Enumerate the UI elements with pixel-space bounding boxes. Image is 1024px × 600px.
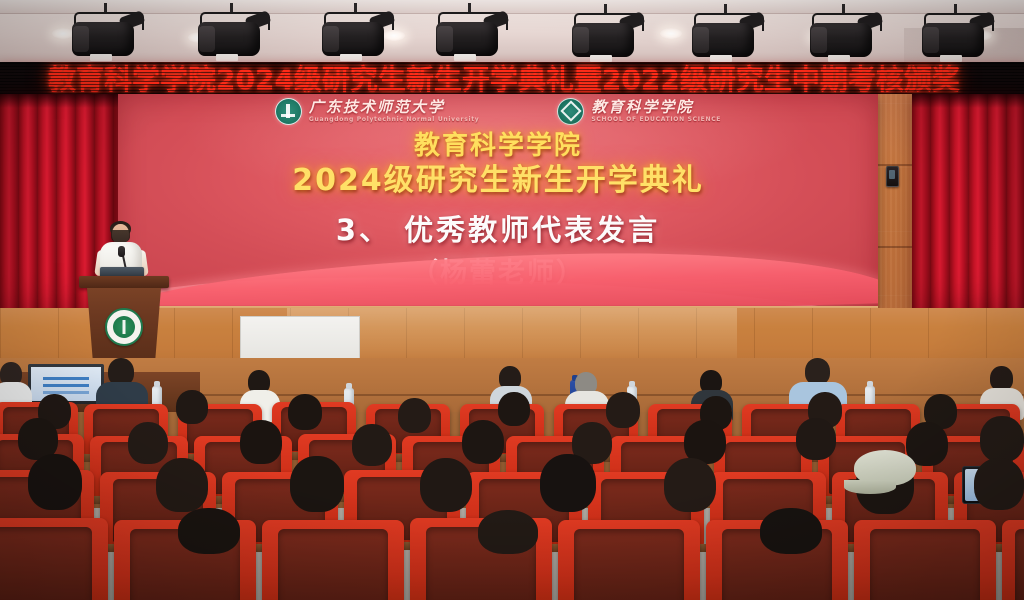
person-head <box>805 358 830 385</box>
person-head <box>240 420 282 464</box>
person-head <box>156 458 208 512</box>
person-head <box>290 456 344 512</box>
led-banner: 教育科学学院2024级研究生新生开学典礼暨2022级研究生中期考核颁奖 <box>0 62 1024 95</box>
person-head <box>352 424 392 466</box>
stage-spotlight-icon <box>196 12 270 60</box>
screen-line-3: 3、 优秀教师代表发言 <box>118 215 878 246</box>
person-head <box>176 390 208 424</box>
school-name-en: SCHOOL OF EDUCATION SCIENCE <box>591 117 721 123</box>
university-name-cn: 广东技术师范大学 <box>309 100 480 115</box>
person-head <box>478 510 538 554</box>
person-head <box>28 454 82 510</box>
cap-brim-icon <box>844 480 896 494</box>
person-head <box>796 418 836 460</box>
downlight-icon <box>660 28 682 39</box>
podium-top <box>79 276 169 288</box>
stage-spotlight-icon <box>70 12 144 60</box>
university-emblem-icon <box>275 98 302 125</box>
stage-spotlight-icon <box>920 13 994 61</box>
person-head <box>462 420 504 464</box>
school-name-cn: 教育科学学院 <box>591 100 721 115</box>
university-logo: 广东技术师范大学 Guangdong Polytechnic Normal Un… <box>275 98 480 125</box>
projection-screen: 广东技术师范大学 Guangdong Polytechnic Normal Un… <box>118 94 878 308</box>
person-head <box>398 398 431 433</box>
ceiling <box>0 0 1024 62</box>
led-banner-text: 教育科学学院2024级研究生新生开学典礼暨2022级研究生中期考核颁奖 <box>48 62 960 95</box>
person-head <box>128 422 168 464</box>
person-head <box>760 508 822 554</box>
person-head <box>974 458 1024 510</box>
screen-line-1: 教育科学学院 <box>118 132 878 160</box>
stage-spotlight-icon <box>434 12 508 60</box>
person-head <box>606 392 640 428</box>
university-name-en: Guangdong Polytechnic Normal University <box>309 117 480 123</box>
person-head <box>178 508 240 554</box>
auditorium-seat <box>262 520 404 600</box>
audience-area <box>0 358 1024 600</box>
auditorium-seat <box>1002 520 1024 600</box>
auditorium-seat <box>854 520 996 600</box>
person-head <box>664 458 716 512</box>
screen-logo-row: 广东技术师范大学 Guangdong Polytechnic Normal Un… <box>118 96 878 126</box>
person-head <box>288 394 322 430</box>
person-head <box>498 392 530 426</box>
ceiling-beam <box>0 0 1024 14</box>
school-emblem-icon <box>557 98 584 125</box>
stage-curtain-right <box>912 94 1024 344</box>
stage-spotlight-icon <box>570 13 644 61</box>
stage-spotlight-icon <box>690 13 764 61</box>
school-logo: 教育科学学院 SCHOOL OF EDUCATION SCIENCE <box>557 98 721 125</box>
person-head <box>980 416 1024 462</box>
wall-control-panel-icon <box>886 166 899 187</box>
auditorium-seat <box>0 518 108 600</box>
stage-spotlight-icon <box>320 12 394 60</box>
auditorium-photo: 教育科学学院2024级研究生新生开学典礼暨2022级研究生中期考核颁奖 广东技术… <box>0 0 1024 600</box>
person-head <box>420 458 472 512</box>
microphone-icon <box>118 246 125 257</box>
auditorium-seat <box>558 520 700 600</box>
university-seal-icon <box>105 308 143 346</box>
stage-spotlight-icon <box>808 13 882 61</box>
screen-line-2: 2024级研究生新生开学典礼 <box>118 165 878 197</box>
person-head <box>540 454 596 512</box>
